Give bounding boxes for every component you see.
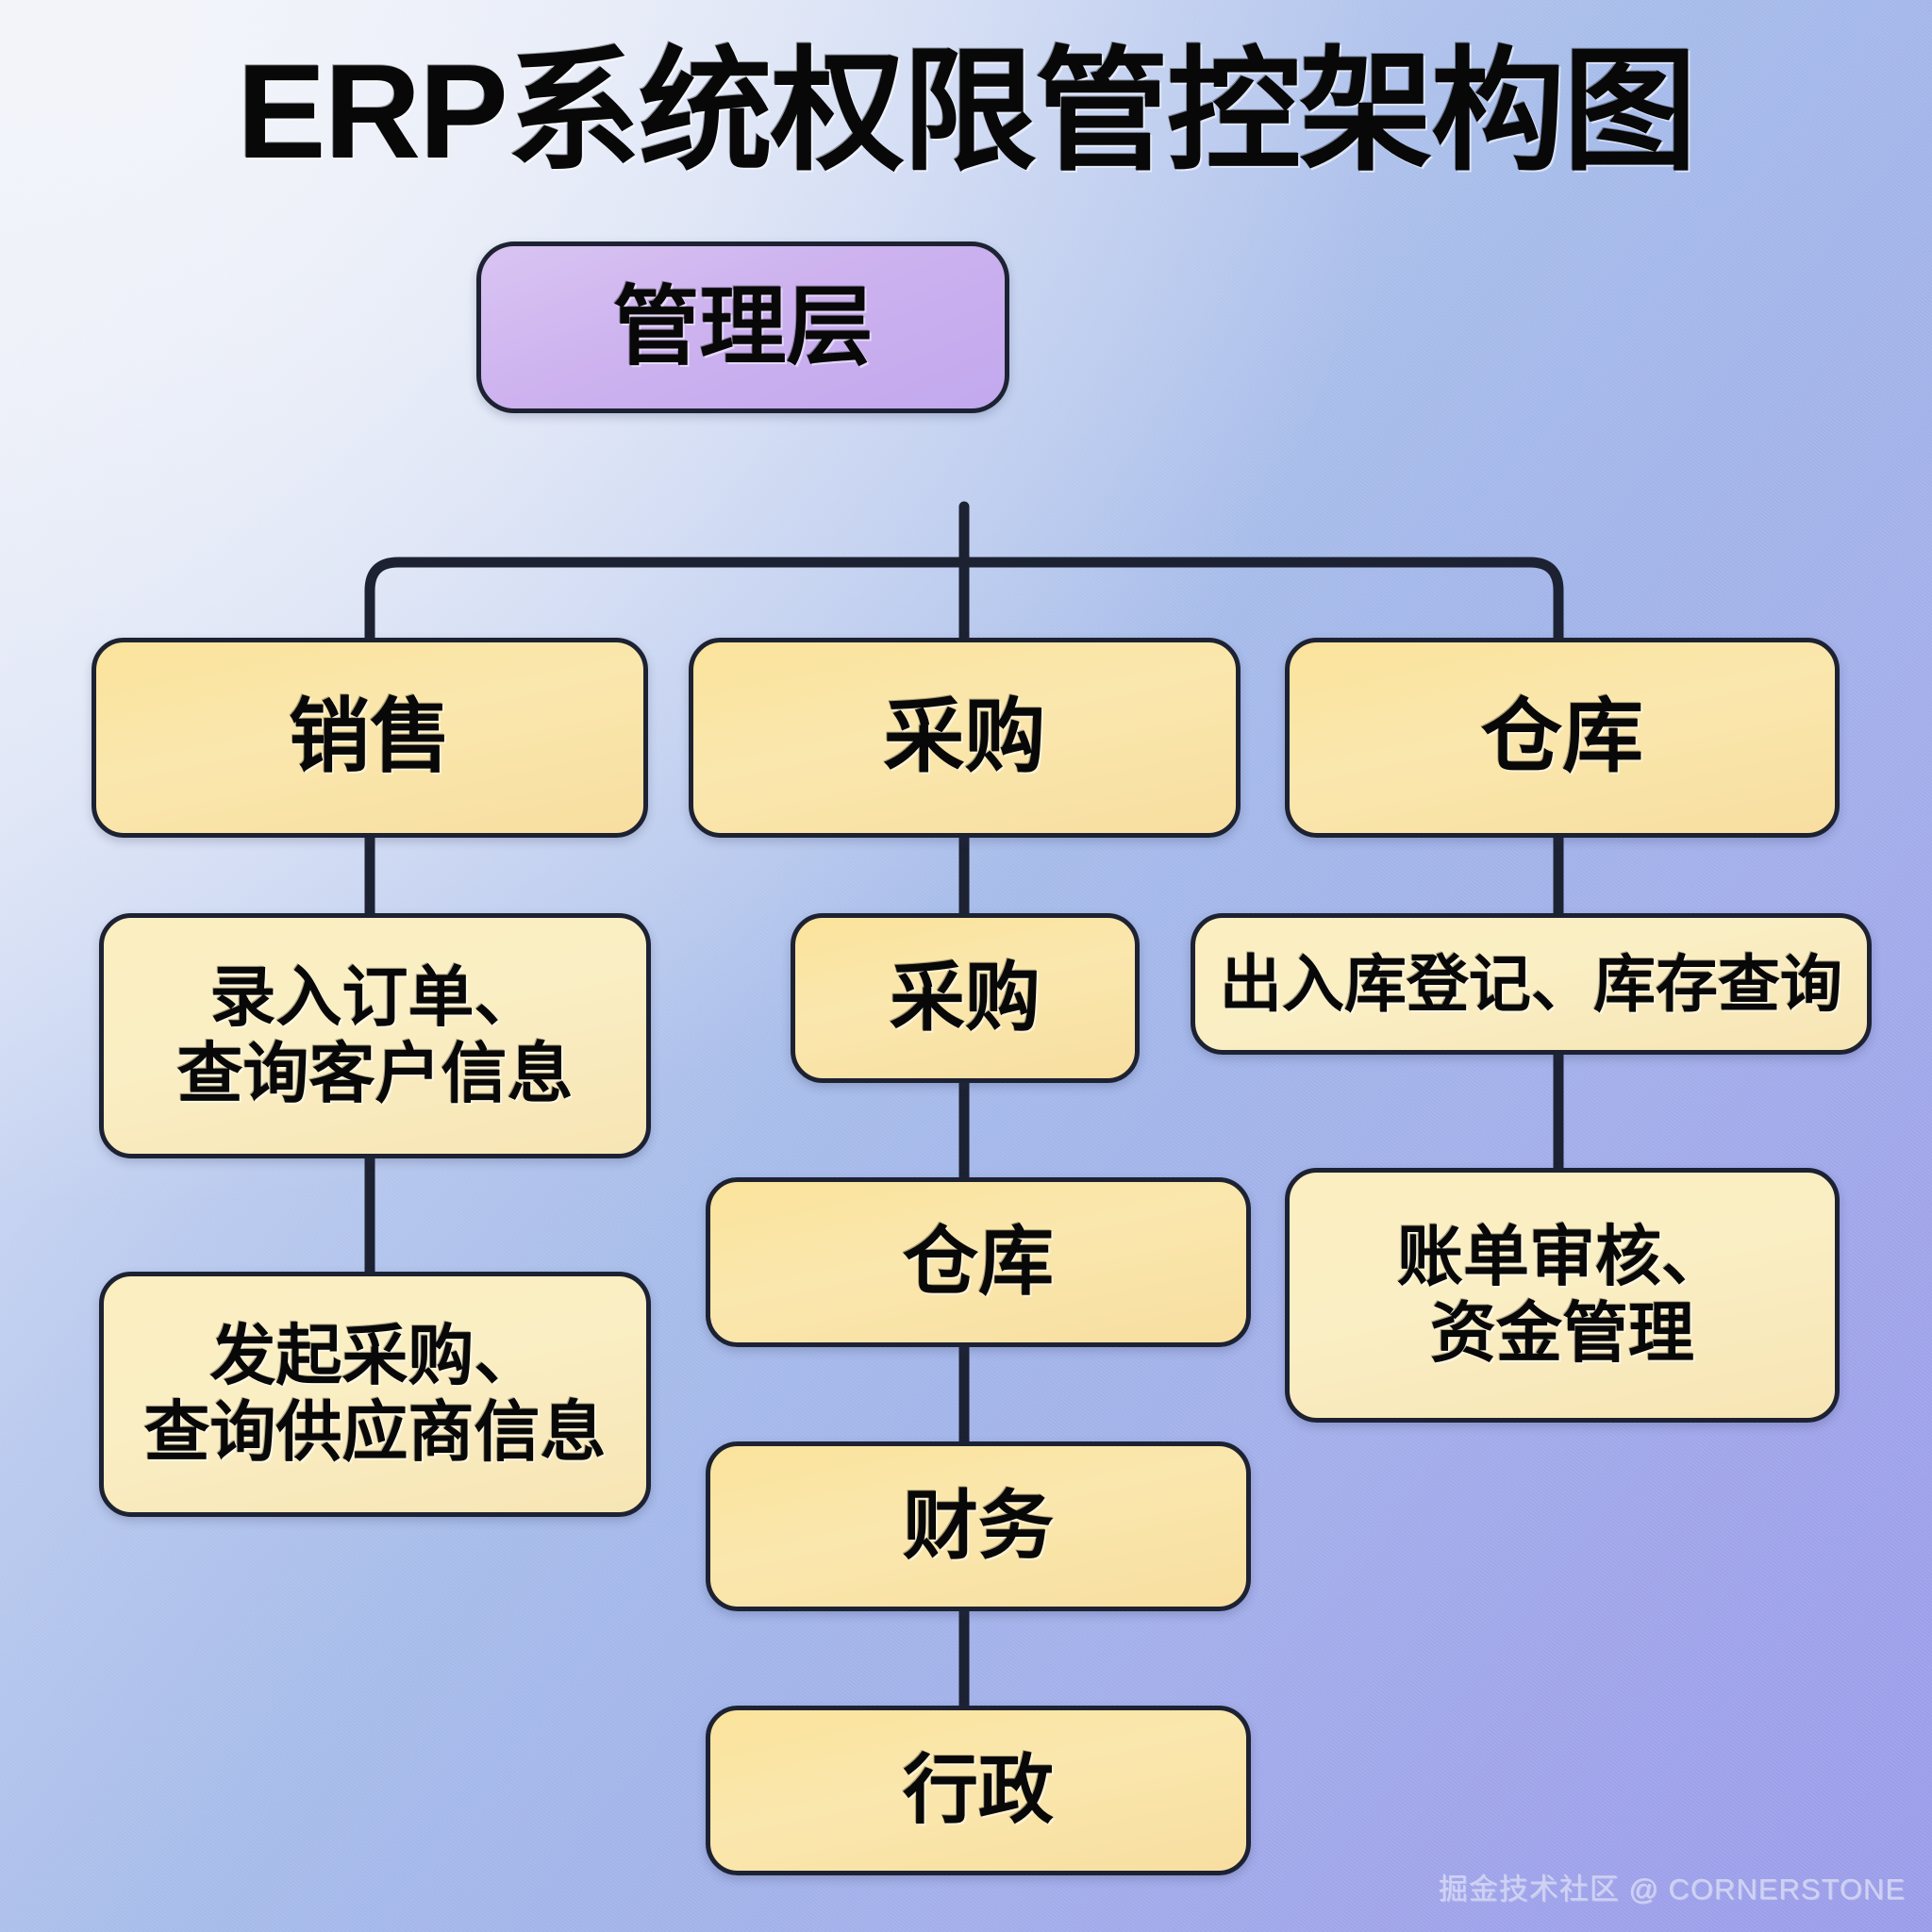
node-warehouse-permission-2-line1: 账单审核、: [1397, 1219, 1727, 1295]
node-dept-purchase[interactable]: 采购: [689, 638, 1241, 838]
node-purchase-child-1[interactable]: 采购: [791, 913, 1140, 1083]
node-dept-sales-label: 销售: [289, 691, 451, 785]
node-purchase-child-3[interactable]: 财务: [706, 1441, 1251, 1611]
node-sales-permission-1-line2: 查询客户信息: [177, 1036, 574, 1112]
node-purchase-child-2[interactable]: 仓库: [706, 1177, 1251, 1347]
node-purchase-child-1-label: 采购: [890, 955, 1041, 1042]
node-root-management-label: 管理层: [612, 277, 873, 378]
node-sales-permission-1-label: 录入订单、 查询客户信息: [177, 959, 574, 1112]
node-dept-warehouse[interactable]: 仓库: [1285, 638, 1840, 838]
node-purchase-child-3-label: 财务: [903, 1483, 1054, 1571]
node-warehouse-permission-2-line2: 资金管理: [1397, 1295, 1727, 1372]
node-purchase-child-2-label: 仓库: [903, 1219, 1054, 1307]
node-dept-warehouse-label: 仓库: [1481, 691, 1643, 785]
node-purchase-child-4-label: 行政: [903, 1747, 1054, 1835]
node-sales-permission-1-line1: 录入订单、: [177, 959, 574, 1036]
node-sales-permission-2[interactable]: 发起采购、 查询供应商信息: [99, 1272, 651, 1517]
node-sales-permission-2-line2: 查询供应商信息: [144, 1394, 607, 1471]
node-warehouse-permission-1-label: 出入库登记、库存查询: [1220, 948, 1842, 1021]
node-warehouse-permission-2[interactable]: 账单审核、 资金管理: [1285, 1168, 1840, 1423]
node-sales-permission-2-line1: 发起采购、: [144, 1318, 607, 1394]
node-dept-sales[interactable]: 销售: [92, 638, 648, 838]
node-dept-purchase-label: 采购: [884, 691, 1046, 785]
node-sales-permission-1[interactable]: 录入订单、 查询客户信息: [99, 913, 651, 1158]
node-root-management[interactable]: 管理层: [476, 241, 1009, 413]
node-warehouse-permission-2-label: 账单审核、 资金管理: [1397, 1219, 1727, 1372]
node-warehouse-permission-1[interactable]: 出入库登记、库存查询: [1191, 913, 1872, 1055]
node-purchase-child-4[interactable]: 行政: [706, 1706, 1251, 1875]
watermark: 掘金技术社区 @ CORNERSTONE: [1439, 1865, 1906, 1907]
diagram-canvas: ERP系统权限管控架构图 管理层 销售 采购 仓库 录入订单、: [0, 0, 1932, 1932]
node-sales-permission-2-label: 发起采购、 查询供应商信息: [144, 1318, 607, 1471]
